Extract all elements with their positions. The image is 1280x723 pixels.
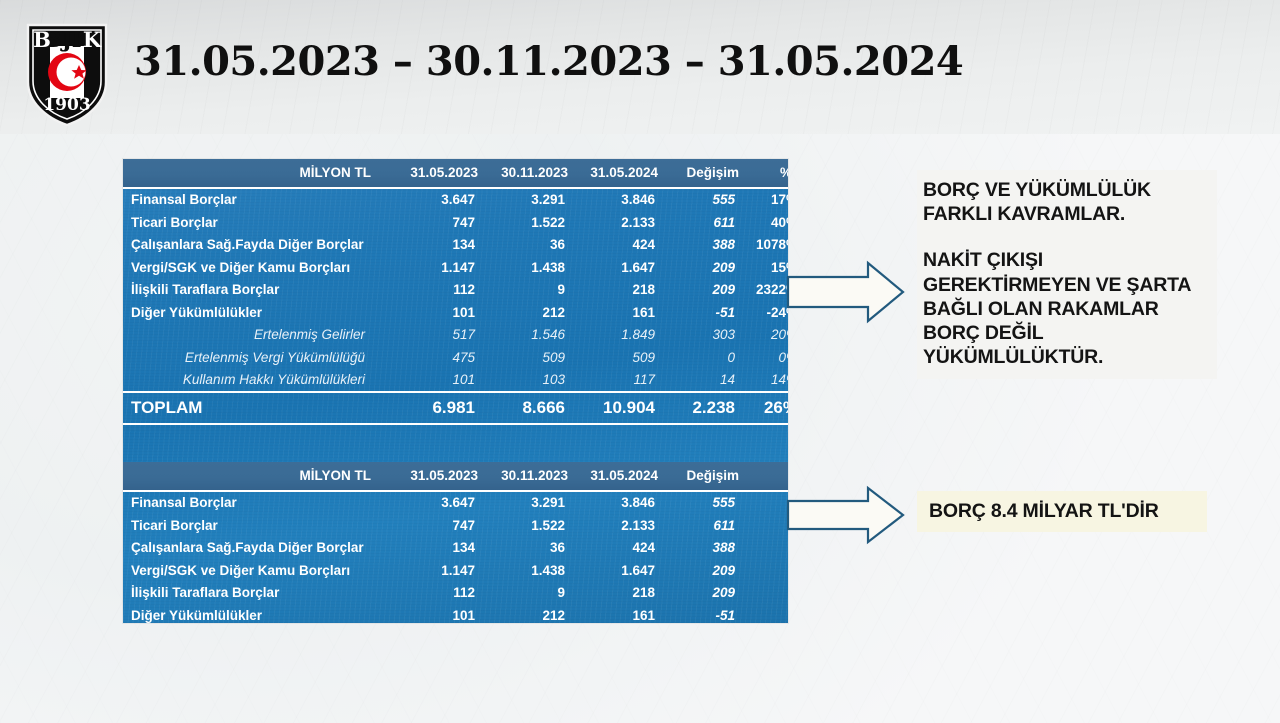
cell-v1: 1.147 — [393, 256, 483, 279]
cell-pct: -24% — [747, 301, 788, 324]
besiktas-jk-crest-icon: BJK B J K 1903 — [24, 20, 110, 128]
row-label: Vergi/SGK ve Diğer Kamu Borçları — [123, 256, 393, 279]
svg-text:B: B — [33, 27, 51, 52]
cell-pct: 15% — [747, 256, 788, 279]
table-row: Diğer Yükümlülükler101212161-51-24% — [123, 301, 788, 324]
cell-change: 611 — [663, 211, 747, 234]
cell-pct: 17% — [747, 188, 788, 212]
cell-change: 303 — [663, 324, 747, 347]
cell-v2: 1.522 — [483, 211, 573, 234]
row-label: Çalışanlara Sağ.Fayda Diğer Borçlar — [123, 234, 393, 257]
cell-change: 0 — [663, 346, 747, 369]
th-unit: MİLYON TL — [123, 462, 393, 491]
th-date3: 31.05.2024 — [573, 159, 663, 188]
cell-v3: 2.133 — [573, 211, 663, 234]
cell-pct: 0% — [747, 346, 788, 369]
row-label: Finansal Borçlar — [123, 491, 393, 515]
table-row: Diğer Yükümlülükler101212161-51 — [123, 604, 788, 623]
cell-v3: 3.846 — [573, 188, 663, 212]
cell-v1: 747 — [393, 514, 483, 537]
cell-v3: 218 — [573, 582, 663, 605]
cell-change: 209 — [663, 279, 747, 302]
cell-v1: 475 — [393, 346, 483, 369]
cell-v3: 509 — [573, 346, 663, 369]
cell-v1: 3.647 — [393, 188, 483, 212]
cell-pct — [747, 559, 788, 582]
cell-v2: 212 — [483, 301, 573, 324]
cell-v3: 3.846 — [573, 491, 663, 515]
cell-v3: 1.647 — [573, 559, 663, 582]
table-row-sub: Ertelenmiş Gelirler5171.5461.84930320% — [123, 324, 788, 347]
cell-v2: 509 — [483, 346, 573, 369]
cell-change: 209 — [663, 256, 747, 279]
table-row: İlişkili Taraflara Borçlar11292182092322… — [123, 279, 788, 302]
row-label: Ertelenmiş Vergi Yükümlülüğü — [123, 346, 393, 369]
liabilities-table-one: MİLYON TL 31.05.2023 30.11.2023 31.05.20… — [123, 159, 788, 462]
cell-v3: 424 — [573, 537, 663, 560]
total-v1: 6.981 — [393, 392, 483, 424]
cell-v1: 112 — [393, 582, 483, 605]
table-row: Vergi/SGK ve Diğer Kamu Borçları1.1471.4… — [123, 256, 788, 279]
th-date1: 31.05.2023 — [393, 462, 483, 491]
th-date2: 30.11.2023 — [483, 462, 573, 491]
total-v3: 10.904 — [573, 392, 663, 424]
cell-v1: 134 — [393, 537, 483, 560]
cell-v1: 101 — [393, 604, 483, 623]
table-row-sub: Ertelenmiş Vergi Yükümlülüğü47550950900% — [123, 346, 788, 369]
cell-v2: 103 — [483, 369, 573, 393]
cell-change: 555 — [663, 188, 747, 212]
svg-text:1903: 1903 — [43, 95, 90, 115]
row-label: İlişkili Taraflara Borçlar — [123, 582, 393, 605]
cell-v1: 112 — [393, 279, 483, 302]
table-one-header-row: MİLYON TL 31.05.2023 30.11.2023 31.05.20… — [123, 159, 788, 188]
cell-change: 388 — [663, 234, 747, 257]
arrow-to-bottom-callout-icon — [786, 484, 906, 546]
cell-change: 555 — [663, 491, 747, 515]
slide-title: 31.05.2023 – 30.11.2023 – 31.05.2024 — [134, 38, 963, 85]
cell-v3: 161 — [573, 604, 663, 623]
cell-v3: 1.647 — [573, 256, 663, 279]
table-one-body: Finansal Borçlar3.6473.2913.84655517% Ti… — [123, 188, 788, 463]
cell-v1: 1.147 — [393, 559, 483, 582]
cell-pct — [747, 537, 788, 560]
callout-debt-amount: BORÇ 8.4 MİLYAR TL'DİR — [917, 491, 1207, 532]
table-row: Çalışanlara Sağ.Fayda Diğer Borçlar13436… — [123, 537, 788, 560]
cell-v2: 1.438 — [483, 256, 573, 279]
callout-top-paragraph-1: BORÇ VE YÜKÜMLÜLÜK FARKLI KAVRAMLAR. — [923, 178, 1211, 226]
row-label: Finansal Borçlar — [123, 188, 393, 212]
cell-v1: 747 — [393, 211, 483, 234]
th-percent — [747, 462, 788, 491]
cell-change: -51 — [663, 301, 747, 324]
cell-pct: 1078% — [747, 234, 788, 257]
th-unit: MİLYON TL — [123, 159, 393, 188]
arrow-to-top-callout-icon — [786, 258, 906, 326]
cell-v2: 1.546 — [483, 324, 573, 347]
total-change: 2.238 — [663, 392, 747, 424]
cell-v1: 101 — [393, 369, 483, 393]
cell-v2: 9 — [483, 279, 573, 302]
table-gap-spacer — [123, 424, 788, 462]
cell-v3: 117 — [573, 369, 663, 393]
row-label: İlişkili Taraflara Borçlar — [123, 279, 393, 302]
table-one-total-row: TOPLAM 6.981 8.666 10.904 2.238 26% — [123, 392, 788, 424]
row-label: Diğer Yükümlülükler — [123, 604, 393, 623]
cell-pct — [747, 491, 788, 515]
cell-v1: 517 — [393, 324, 483, 347]
cell-v2: 1.522 — [483, 514, 573, 537]
row-label: Vergi/SGK ve Diğer Kamu Borçları — [123, 559, 393, 582]
cell-v3: 161 — [573, 301, 663, 324]
cell-v2: 9 — [483, 582, 573, 605]
cell-change: 388 — [663, 537, 747, 560]
cell-v3: 424 — [573, 234, 663, 257]
cell-v2: 36 — [483, 234, 573, 257]
cell-v3: 1.849 — [573, 324, 663, 347]
cell-v2: 212 — [483, 604, 573, 623]
table-row: Vergi/SGK ve Diğer Kamu Borçları1.1471.4… — [123, 559, 788, 582]
cell-v1: 134 — [393, 234, 483, 257]
cell-change: 14 — [663, 369, 747, 393]
th-percent: % — [747, 159, 788, 188]
callout-bottom-text: BORÇ 8.4 MİLYAR TL'DİR — [929, 499, 1199, 523]
cell-v2: 3.291 — [483, 491, 573, 515]
cell-pct: 20% — [747, 324, 788, 347]
row-label: Ertelenmiş Gelirler — [123, 324, 393, 347]
cell-pct: 14% — [747, 369, 788, 393]
total-pct: 26% — [747, 392, 788, 424]
row-label: Kullanım Hakkı Yükümlülükleri — [123, 369, 393, 393]
cell-pct: 40% — [747, 211, 788, 234]
cell-pct — [747, 514, 788, 537]
cell-pct — [747, 582, 788, 605]
table-two-header-row: MİLYON TL 31.05.2023 30.11.2023 31.05.20… — [123, 462, 788, 491]
th-date3: 31.05.2024 — [573, 462, 663, 491]
table-row-sub: Kullanım Hakkı Yükümlülükleri10110311714… — [123, 369, 788, 393]
cell-v1: 3.647 — [393, 491, 483, 515]
cell-v2: 3.291 — [483, 188, 573, 212]
cell-v2: 36 — [483, 537, 573, 560]
th-change: Değişim — [663, 159, 747, 188]
cell-v3: 2.133 — [573, 514, 663, 537]
svg-text:J: J — [60, 27, 72, 52]
table-row: Ticari Borçlar7471.5222.133611 — [123, 514, 788, 537]
table-two-body: Finansal Borçlar3.6473.2913.846555 Ticar… — [123, 491, 788, 624]
cell-v3: 218 — [573, 279, 663, 302]
cell-change: 209 — [663, 582, 747, 605]
row-label: Ticari Borçlar — [123, 211, 393, 234]
th-date1: 31.05.2023 — [393, 159, 483, 188]
svg-text:K: K — [83, 27, 102, 52]
row-label: Diğer Yükümlülükler — [123, 301, 393, 324]
table-row: İlişkili Taraflara Borçlar1129218209 — [123, 582, 788, 605]
callout-top-paragraph-2: NAKİT ÇIKIŞI GEREKTİRMEYEN VE ŞARTA BAĞL… — [923, 248, 1211, 369]
row-label: Çalışanlara Sağ.Fayda Diğer Borçlar — [123, 537, 393, 560]
cell-pct — [747, 604, 788, 623]
table-row: Ticari Borçlar7471.5222.13361140% — [123, 211, 788, 234]
th-change: Değişim — [663, 462, 747, 491]
table-row: Finansal Borçlar3.6473.2913.84655517% — [123, 188, 788, 212]
liabilities-table-two: MİLYON TL 31.05.2023 30.11.2023 31.05.20… — [123, 462, 788, 623]
total-v2: 8.666 — [483, 392, 573, 424]
cell-change: 611 — [663, 514, 747, 537]
cell-v1: 101 — [393, 301, 483, 324]
cell-change: 209 — [663, 559, 747, 582]
financial-tables-panel: MİLYON TL 31.05.2023 30.11.2023 31.05.20… — [123, 159, 788, 623]
table-row: Finansal Borçlar3.6473.2913.846555 — [123, 491, 788, 515]
total-label: TOPLAM — [123, 392, 393, 424]
callout-concept-note: BORÇ VE YÜKÜMLÜLÜK FARKLI KAVRAMLAR. NAK… — [917, 170, 1217, 379]
table-row: Çalışanlara Sağ.Fayda Diğer Borçlar13436… — [123, 234, 788, 257]
row-label: Ticari Borçlar — [123, 514, 393, 537]
cell-change: -51 — [663, 604, 747, 623]
cell-pct: 2322% — [747, 279, 788, 302]
th-date2: 30.11.2023 — [483, 159, 573, 188]
cell-v2: 1.438 — [483, 559, 573, 582]
